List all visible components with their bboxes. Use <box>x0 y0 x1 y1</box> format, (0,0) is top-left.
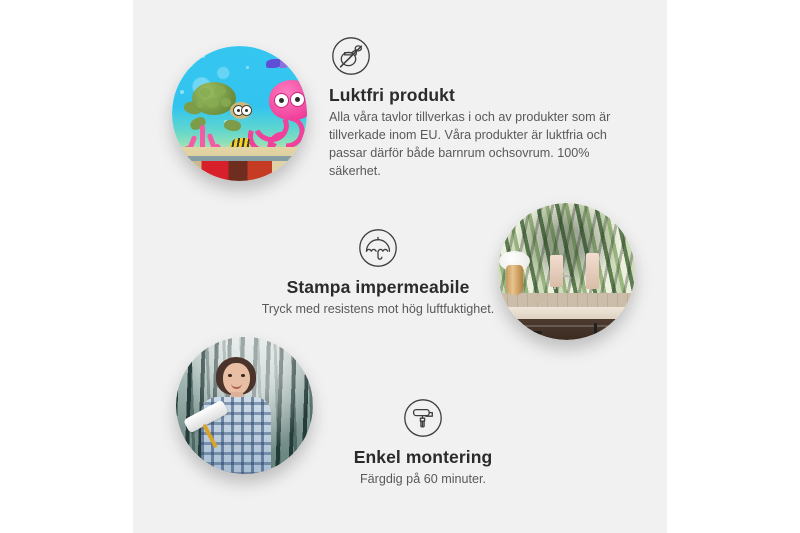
photo-bottom-strip <box>172 161 307 181</box>
turtle-head <box>230 102 252 119</box>
photo-underwater-kids-mural <box>172 46 307 181</box>
feature-odourless: Luktfri produkt Alla våra tavlor tillver… <box>329 36 629 181</box>
vanity-cabinet <box>498 319 635 340</box>
feature-body: Alla våra tavlor tillverkas i och av pro… <box>329 109 629 181</box>
no-perfume-icon <box>331 36 371 76</box>
towel-right <box>586 253 599 289</box>
feature-body: Färgdig på 60 minuter. <box>333 471 513 489</box>
feature-title: Luktfri produkt <box>329 85 629 105</box>
feature-waterproof: Stampa impermeabile Tryck med resistens … <box>213 228 543 319</box>
feature-body: Tryck med resistens mot hög luftfuktighe… <box>213 301 543 319</box>
paint-roller-icon <box>403 398 443 438</box>
feature-title: Stampa impermeabile <box>213 277 543 297</box>
feature-title: Enkel montering <box>333 447 513 467</box>
photo-woman-with-wallpaper-roll-forest <box>176 337 313 474</box>
photo-bathroom-tropical-wallpaper <box>498 203 635 340</box>
vanity-counter <box>498 307 635 319</box>
towel-left <box>550 255 563 287</box>
soap-dish <box>532 295 549 302</box>
screenshot-canvas: Luktfri produkt Alla våra tavlor tillver… <box>0 0 800 533</box>
umbrella-icon <box>358 228 398 268</box>
woman-face <box>223 363 250 395</box>
gold-vase <box>506 265 523 295</box>
content-panel: Luktfri produkt Alla våra tavlor tillver… <box>133 0 667 533</box>
feature-easy-install: Enkel montering Färgdig på 60 minuter. <box>333 398 513 489</box>
